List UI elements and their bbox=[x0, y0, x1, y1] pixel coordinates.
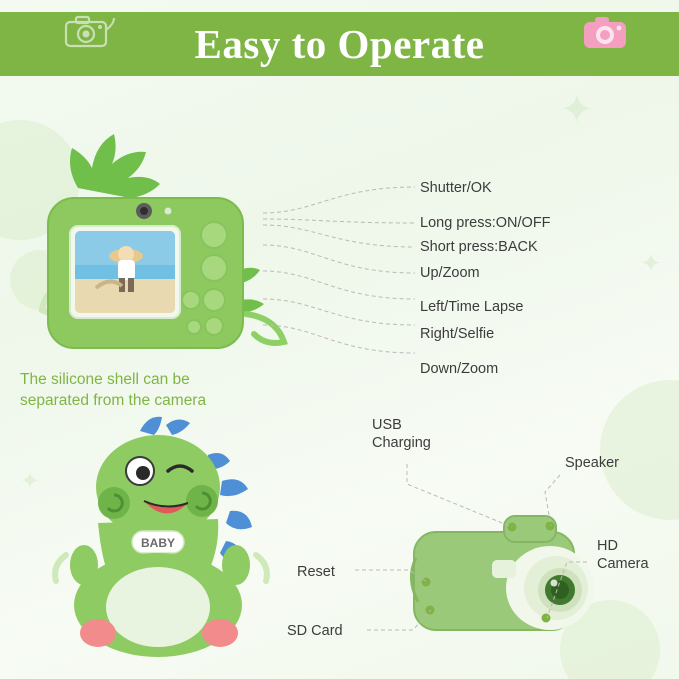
silicone-shell-note: The silicone shell can be separated from… bbox=[20, 370, 280, 412]
callout-right-selfie: Right/Selfie bbox=[420, 326, 494, 342]
callout-leader-lines bbox=[255, 175, 430, 370]
callout-down-zoom: Down/Zoom bbox=[420, 361, 498, 377]
silicone-note-line1: The silicone shell can be bbox=[20, 371, 190, 388]
product-infographic-page: ✦ ✦ ✦ Easy to Operate bbox=[0, 0, 679, 679]
callout-up-zoom: Up/Zoom bbox=[420, 265, 480, 281]
silicone-shell-illustration: BABY bbox=[40, 415, 290, 665]
label-hd-camera: HD Camera bbox=[597, 537, 649, 573]
silicone-note-line2: separated from the camera bbox=[20, 392, 206, 409]
label-sd-card: SD Card bbox=[287, 622, 343, 640]
callout-shutter-ok: Shutter/OK bbox=[420, 180, 492, 196]
label-speaker: Speaker bbox=[565, 454, 619, 472]
callout-short-press: Short press:BACK bbox=[420, 239, 538, 255]
label-usb-charging-line1: USB bbox=[372, 417, 402, 433]
pink-camera-icon bbox=[581, 14, 629, 52]
label-hd-camera-line2: Camera bbox=[597, 556, 649, 572]
label-usb-charging-line2: Charging bbox=[372, 435, 431, 451]
label-usb-charging: USB Charging bbox=[372, 416, 431, 452]
star-icon: ✦ bbox=[20, 470, 40, 494]
vintage-camera-icon bbox=[60, 12, 116, 52]
star-icon: ✦ bbox=[640, 250, 662, 276]
star-icon: ✦ bbox=[560, 90, 594, 130]
label-reset: Reset bbox=[297, 563, 335, 581]
page-title: Easy to Operate bbox=[195, 20, 485, 68]
callout-left-time-lapse: Left/Time Lapse bbox=[420, 299, 523, 315]
label-hd-camera-line1: HD bbox=[597, 538, 618, 554]
callout-long-press: Long press:ON/OFF bbox=[420, 215, 551, 231]
shell-badge-text: BABY bbox=[141, 536, 175, 550]
